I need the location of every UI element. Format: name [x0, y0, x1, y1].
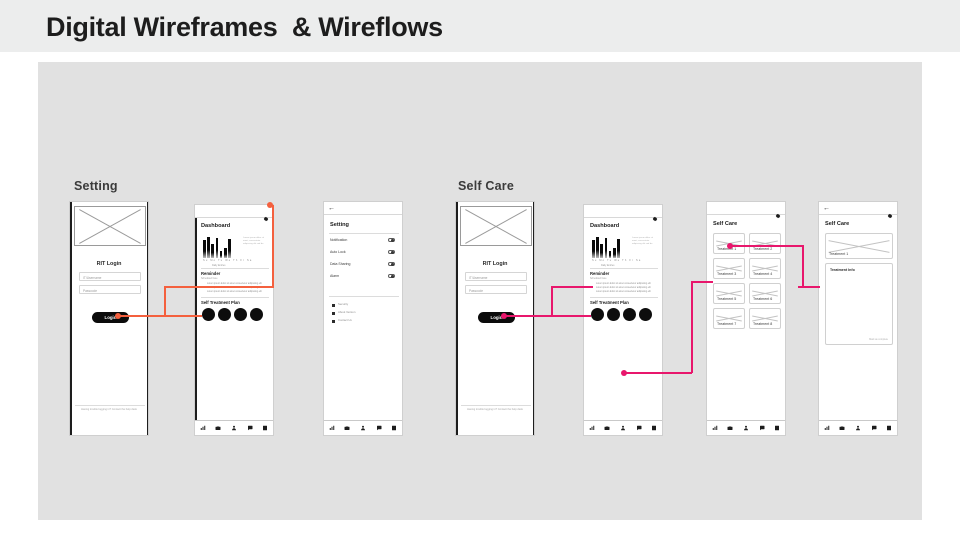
bar [203, 240, 206, 258]
reminder-title: Reminder [590, 271, 609, 276]
setting-legend-label: Contact Us [338, 318, 352, 322]
screen-login-setting[interactable]: RIT Login IT/Username Passcode Login Hav… [69, 201, 149, 436]
username-field[interactable]: IT/Username [79, 272, 141, 281]
connector-segment [624, 372, 692, 374]
back-arrow-icon[interactable]: ← [823, 205, 830, 212]
divider [590, 297, 658, 298]
reminder-line: Lorem ipsum dolor sit amet consectetur a… [207, 291, 262, 293]
username-placeholder: IT/Username [469, 276, 487, 280]
reminder-title: Reminder [201, 271, 220, 276]
screen-dashboard-selfcare[interactable]: Dashboard Su Mo Tu We Th Fr Sa Daily Ent… [583, 204, 663, 436]
password-field[interactable]: Passcode [465, 285, 527, 294]
reminder-line: Lorem ipsum dolor sit amet consectetur a… [596, 291, 651, 293]
reminder-sub: Scheduled Care [590, 278, 606, 280]
setting-row-label: Data Sharing [330, 262, 350, 266]
chart-icon[interactable] [200, 425, 206, 431]
book-icon[interactable] [651, 425, 657, 431]
bottom-nav[interactable] [584, 420, 662, 435]
treatment-card-label: Treatment 4 [753, 272, 772, 276]
connector-segment [551, 286, 553, 316]
dashboard-bar-chart [592, 235, 620, 258]
bar [207, 237, 210, 258]
username-field[interactable]: IT/Username [465, 272, 527, 281]
treatment-info-footer: Mark as complete [869, 338, 888, 341]
treatment-card[interactable]: Treatment 8 [749, 308, 781, 329]
bar [211, 244, 214, 258]
dashboard-title: Dashboard [590, 223, 619, 229]
chart-x-ticks: Su Mo Tu We Th Fr Sa [592, 259, 641, 262]
screen-dashboard-setting[interactable]: Dashboard Su Mo Tu We Th Fr Sa Daily Ent… [194, 204, 274, 436]
chat-icon[interactable] [376, 425, 382, 431]
briefcase-icon[interactable] [727, 425, 733, 431]
treatment-card[interactable]: Treatment 7 [713, 308, 745, 329]
chart-icon[interactable] [329, 425, 335, 431]
briefcase-icon[interactable] [344, 425, 350, 431]
toggle-switch[interactable] [388, 238, 395, 242]
chart-icon[interactable] [712, 425, 718, 431]
book-icon[interactable] [262, 425, 268, 431]
chart-caption: Daily Entries [601, 264, 614, 267]
dashboard-bar-chart [203, 235, 231, 258]
login-title: RIT Login [456, 261, 534, 267]
toggle-switch[interactable] [388, 262, 395, 266]
connector-segment [798, 286, 820, 288]
bullet-icon [332, 312, 335, 315]
treatment-hero-card[interactable]: Treatment 1 [825, 233, 893, 259]
setting-row[interactable]: Alarm [324, 272, 402, 283]
connector-segment [164, 286, 166, 316]
bar [592, 240, 595, 258]
chart-caption: Daily Entries [212, 264, 225, 267]
phone-edge-left [195, 205, 197, 435]
divider [461, 405, 531, 406]
connector-segment [691, 281, 713, 283]
chat-icon[interactable] [247, 425, 253, 431]
plan-title: Self Treatment Plan [201, 300, 240, 305]
screen-setting[interactable]: ← Setting Notification Auto Lock Data Sh… [323, 201, 403, 436]
selfcare-topbar [707, 202, 785, 215]
book-icon[interactable] [774, 425, 780, 431]
briefcase-icon[interactable] [604, 425, 610, 431]
connector-segment [691, 281, 693, 373]
password-field[interactable]: Passcode [79, 285, 141, 294]
bar [605, 238, 608, 258]
divider [590, 268, 658, 269]
bar [216, 238, 219, 258]
image-placeholder [74, 206, 146, 246]
dashboard-topbar [584, 205, 662, 218]
treatment-card-label: Treatment 8 [753, 322, 772, 326]
divider [201, 297, 269, 298]
setting-row-label: Notification [330, 238, 347, 242]
dashboard-topbar [195, 205, 273, 218]
setting-row-label: Alarm [330, 274, 339, 278]
dashboard-title: Dashboard [201, 223, 230, 229]
gear-icon[interactable] [652, 209, 658, 227]
divider [201, 268, 269, 269]
page-title: Digital Wireframes & Wireflows [46, 12, 443, 43]
phone-edge-left [70, 202, 72, 435]
username-placeholder: IT/Username [83, 276, 101, 280]
chat-icon[interactable] [636, 425, 642, 431]
treatment-card[interactable]: Treatment 3 [713, 258, 745, 279]
screen-login-selfcare[interactable]: RIT Login IT/Username Passcode Login Hav… [455, 201, 535, 436]
gear-icon[interactable] [263, 209, 269, 227]
person-icon[interactable] [620, 425, 626, 431]
page-header: Digital Wireframes & Wireflows [0, 0, 960, 52]
connector-segment [802, 245, 804, 287]
person-icon[interactable] [855, 425, 861, 431]
treatment-card-label: Treatment 7 [717, 322, 736, 326]
setting-title: Setting [330, 222, 349, 228]
plan-item[interactable] [591, 308, 604, 321]
divider [75, 405, 145, 406]
back-arrow-icon[interactable]: ← [328, 205, 335, 212]
treatment-card[interactable]: Treatment 2 [749, 233, 781, 254]
selfcare-detail-topbar: ← [819, 202, 897, 215]
bottom-nav[interactable] [707, 420, 785, 435]
group-label-setting: Setting [74, 179, 118, 193]
password-placeholder: Passcode [83, 289, 97, 293]
login-button[interactable]: Login [92, 312, 129, 323]
book-icon[interactable] [886, 425, 892, 431]
login-title: RIT Login [70, 261, 148, 267]
treatment-card-label: Treatment 6 [753, 297, 772, 301]
setting-row-label: Auto Lock [330, 250, 346, 254]
setting-row[interactable]: Notification [324, 236, 402, 247]
gear-icon[interactable] [887, 206, 893, 224]
setting-legend-label: Security [338, 302, 348, 306]
bar [609, 251, 612, 258]
selfcare-detail-title: Self Care [825, 221, 849, 227]
login-button[interactable]: Login [478, 312, 515, 323]
person-icon[interactable] [743, 425, 749, 431]
connector-segment [164, 286, 274, 288]
screen-selfcare-grid[interactable]: Self Care Treatment 1 Treatment 2 Treatm… [706, 201, 786, 436]
chat-icon[interactable] [759, 425, 765, 431]
toggle-switch[interactable] [388, 250, 395, 254]
treatment-card-label: Treatment 5 [717, 297, 736, 301]
treatment-info-title: Treatment Info [830, 268, 855, 272]
plan-item[interactable] [202, 308, 215, 321]
plan-title: Self Treatment Plan [590, 300, 629, 305]
selfcare-title: Self Care [713, 221, 737, 227]
bar [600, 244, 603, 258]
treatment-card[interactable]: Treatment 4 [749, 258, 781, 279]
plan-item[interactable] [218, 308, 231, 321]
treatment-card-label: Treatment 2 [753, 247, 772, 251]
person-icon[interactable] [231, 425, 237, 431]
book-icon[interactable] [391, 425, 397, 431]
plan-items[interactable] [591, 308, 652, 321]
password-placeholder: Passcode [469, 289, 483, 293]
reminder-line: Lorem ipsum dolor sit amet consectetur a… [596, 287, 651, 289]
treatment-info-panel: Treatment Info Mark as complete [825, 263, 893, 345]
reminder-line: Lorem ipsum dolor sit amet consectetur a… [207, 283, 262, 285]
setting-row[interactable]: Auto Lock [324, 248, 402, 259]
bar [220, 251, 223, 258]
bar [224, 248, 227, 258]
login-footer: Having trouble logging in? Contact the h… [70, 408, 148, 411]
connector-end-dot [267, 202, 273, 208]
connector-segment [551, 286, 593, 288]
phone-edge-right [147, 202, 149, 435]
phone-edge-right [533, 202, 535, 435]
divider [329, 233, 399, 234]
bar [617, 239, 620, 258]
toggle-switch[interactable] [388, 274, 395, 278]
connector-segment [506, 315, 591, 317]
login-footer: Having trouble logging in? Contact the h… [456, 408, 534, 411]
chart-x-ticks: Su Mo Tu We Th Fr Sa [203, 259, 252, 262]
bullet-icon [332, 304, 335, 307]
connector-segment [120, 315, 202, 317]
reminder-sub: Scheduled Care [201, 278, 217, 280]
bottom-nav[interactable] [324, 420, 402, 435]
setting-legend-label: About Version [338, 310, 355, 314]
plan-item[interactable] [234, 308, 247, 321]
phone-edge-left [456, 202, 458, 435]
chart-side-note: Lorem ipsum dolor sit amet, consectetur … [632, 237, 658, 246]
connector-segment [272, 205, 274, 287]
bar [596, 237, 599, 258]
chart-icon[interactable] [824, 425, 830, 431]
divider [329, 296, 399, 297]
person-icon[interactable] [360, 425, 366, 431]
briefcase-icon[interactable] [215, 425, 221, 431]
image-placeholder [460, 206, 532, 246]
plan-item[interactable] [623, 308, 636, 321]
treatment-hero-label: Treatment 1 [829, 252, 848, 256]
plan-item[interactable] [639, 308, 652, 321]
plan-items[interactable] [202, 308, 263, 321]
group-label-selfcare: Self Care [458, 179, 514, 193]
plan-item[interactable] [607, 308, 620, 321]
chart-side-note: Lorem ipsum dolor sit amet, consectetur … [243, 237, 269, 246]
briefcase-icon[interactable] [839, 425, 845, 431]
gear-icon[interactable] [775, 206, 781, 224]
bullet-icon [332, 320, 335, 323]
bar [613, 248, 616, 258]
bottom-nav[interactable] [195, 420, 273, 435]
plan-item[interactable] [250, 308, 263, 321]
setting-row[interactable]: Data Sharing [324, 260, 402, 271]
chat-icon[interactable] [871, 425, 877, 431]
treatment-card[interactable]: Treatment 6 [749, 283, 781, 304]
chart-icon[interactable] [589, 425, 595, 431]
treatment-card-label: Treatment 3 [717, 272, 736, 276]
screen-selfcare-detail[interactable]: ← Self Care Treatment 1 Treatment Info M… [818, 201, 898, 436]
setting-topbar: ← [324, 202, 402, 215]
bottom-nav[interactable] [819, 420, 897, 435]
bar [228, 239, 231, 258]
connector-segment [731, 245, 803, 247]
reminder-line: Lorem ipsum dolor sit amet consectetur a… [596, 283, 651, 285]
treatment-card[interactable]: Treatment 5 [713, 283, 745, 304]
wireframe-canvas: Setting RIT Login IT/Username Passcode L… [38, 62, 922, 520]
